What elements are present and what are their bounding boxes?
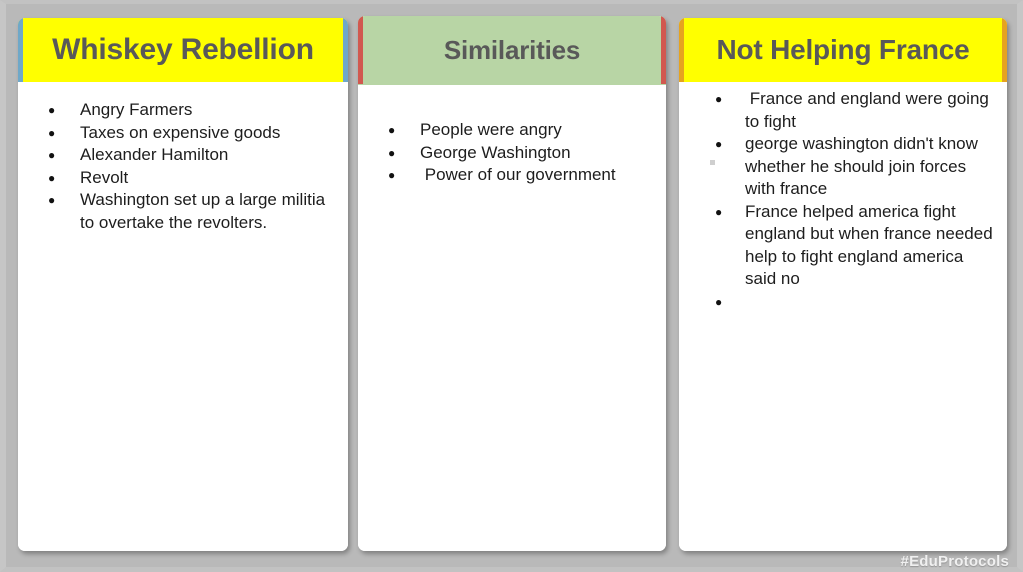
card-whiskey-rebellion[interactable]: Whiskey Rebellion Angry Farmers Taxes on… [18, 18, 348, 551]
card-header-not-helping-france: Not Helping France [679, 18, 1007, 82]
card-not-helping-france[interactable]: Not Helping France France and england we… [679, 18, 1007, 551]
list-item[interactable]: george washington didn't know whether he… [695, 133, 993, 201]
list-item[interactable]: Power of our government [372, 164, 652, 187]
card-similarities[interactable]: Similarities People were angry George Wa… [358, 16, 666, 551]
list-item[interactable]: Alexander Hamilton [32, 144, 334, 167]
card-header-whiskey-rebellion: Whiskey Rebellion [18, 18, 348, 82]
card-accent-right-stripe [661, 16, 666, 84]
slide-canvas: Whiskey Rebellion Angry Farmers Taxes on… [0, 0, 1023, 572]
card-body-whiskey-rebellion[interactable]: Angry Farmers Taxes on expensive goods A… [18, 82, 348, 551]
list-item[interactable]: France and england were going to fight [695, 88, 993, 133]
list-item[interactable]: Angry Farmers [32, 99, 334, 122]
card-accent-left-stripe [18, 18, 23, 86]
card-title: Whiskey Rebellion [52, 34, 314, 66]
watermark-eduprotocols: #EduProtocols [901, 553, 1009, 570]
list-item-empty[interactable] [695, 291, 993, 314]
bullet-list: Angry Farmers Taxes on expensive goods A… [32, 99, 334, 234]
list-item[interactable]: France helped america fight england but … [695, 201, 993, 291]
card-accent-right-stripe [343, 18, 348, 86]
bullet-list: People were angry George Washington Powe… [372, 119, 652, 187]
card-body-similarities[interactable]: People were angry George Washington Powe… [358, 85, 666, 551]
list-item[interactable]: Washington set up a large militia to ove… [32, 189, 334, 234]
card-title: Similarities [444, 37, 580, 64]
list-item[interactable]: People were angry [372, 119, 652, 142]
list-item[interactable]: George Washington [372, 142, 652, 165]
list-item[interactable]: Revolt [32, 167, 334, 190]
card-accent-right-stripe [1002, 18, 1007, 86]
card-accent-left-stripe [679, 18, 684, 86]
card-header-similarities: Similarities [358, 16, 666, 85]
card-body-not-helping-france[interactable]: France and england were going to fight g… [679, 82, 1007, 551]
bullet-list: France and england were going to fight g… [695, 88, 993, 313]
card-title: Not Helping France [716, 35, 969, 64]
card-accent-left-stripe [358, 16, 363, 84]
list-item[interactable]: Taxes on expensive goods [32, 122, 334, 145]
